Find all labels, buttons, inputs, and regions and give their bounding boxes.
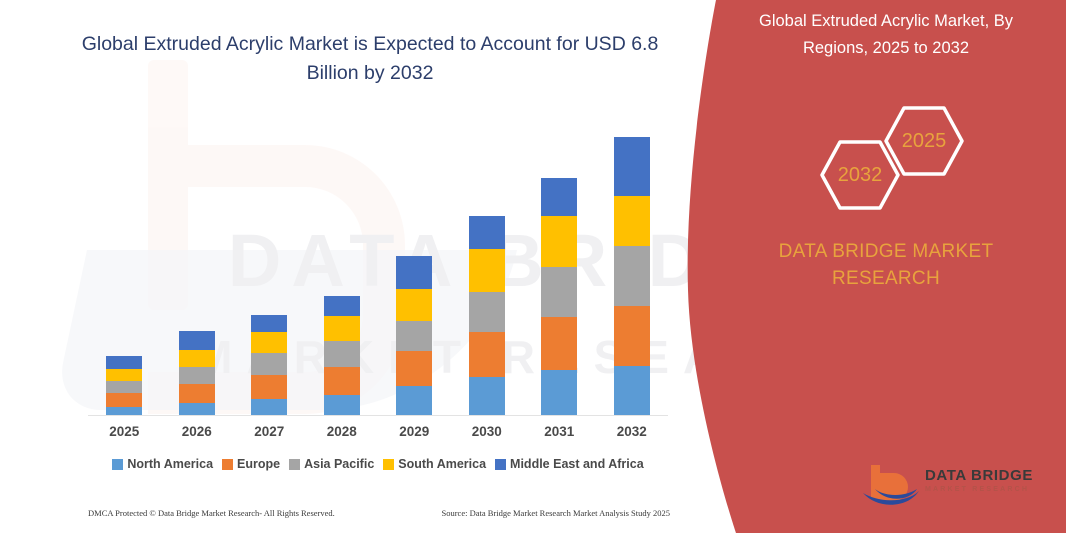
bar-segment [469, 216, 505, 249]
chart-plot-area [88, 120, 680, 416]
footer-copyright: DMCA Protected © Data Bridge Market Rese… [88, 508, 335, 518]
bar-segment [469, 332, 505, 377]
bar-group [88, 121, 668, 415]
legend-item-asia-pacific[interactable]: Asia Pacific [289, 457, 374, 471]
bar-segment [106, 381, 142, 393]
bar-segment [106, 393, 142, 407]
bar-segment [614, 366, 650, 415]
x-tick-2032: 2032 [596, 424, 669, 439]
x-axis-labels: 20252026202720282029203020312032 [88, 424, 668, 439]
bar-segment [179, 350, 215, 367]
footer: DMCA Protected © Data Bridge Market Rese… [88, 508, 670, 518]
x-tick-2030: 2030 [451, 424, 524, 439]
stacked-bar [324, 296, 360, 415]
bar-segment [106, 407, 142, 415]
bar-column-2030 [451, 121, 524, 415]
stacked-bar [106, 356, 142, 415]
bar-segment [396, 351, 432, 386]
footer-source: Source: Data Bridge Market Research Mark… [441, 508, 670, 518]
stacked-bar [614, 137, 650, 415]
legend-item-middle-east-and-africa[interactable]: Middle East and Africa [495, 457, 644, 471]
logo: DATA BRIDGE MARKET RESEARCH [861, 463, 1051, 515]
legend-swatch-icon [383, 459, 394, 470]
bar-segment [469, 292, 505, 332]
bar-column-2027 [233, 121, 306, 415]
bar-segment [614, 137, 650, 196]
bar-segment [469, 249, 505, 292]
bar-segment [541, 216, 577, 267]
bar-segment [179, 403, 215, 415]
right-panel: Global Extruded Acrylic Market, By Regio… [686, 0, 1066, 533]
chart-legend: North AmericaEuropeAsia PacificSouth Ame… [88, 457, 668, 471]
panel-title: Global Extruded Acrylic Market, By Regio… [726, 8, 1046, 62]
bar-segment [614, 306, 650, 366]
bar-segment [541, 370, 577, 415]
hexagon-2032-label: 2032 [818, 138, 902, 212]
hexagon-2032: 2032 [818, 138, 902, 212]
bar-segment [179, 331, 215, 350]
bar-segment [179, 384, 215, 403]
bar-column-2029 [378, 121, 451, 415]
legend-item-europe[interactable]: Europe [222, 457, 280, 471]
bar-segment [541, 317, 577, 370]
data-bridge-logo-icon [861, 463, 923, 513]
bar-segment [541, 178, 577, 216]
logo-text: DATA BRIDGE MARKET RESEARCH [925, 467, 1055, 495]
bar-segment [614, 246, 650, 306]
stacked-bar [251, 315, 287, 415]
legend-swatch-icon [495, 459, 506, 470]
bar-column-2031 [523, 121, 596, 415]
axis-baseline [88, 415, 668, 416]
legend-label: Middle East and Africa [510, 457, 644, 471]
legend-swatch-icon [289, 459, 300, 470]
bar-segment [106, 356, 142, 369]
brand-name: DATA BRIDGE MARKET RESEARCH [726, 238, 1046, 292]
bar-segment [396, 256, 432, 289]
stacked-bar [469, 216, 505, 415]
logo-name-line1: DATA BRIDGE [925, 467, 1055, 484]
logo-name-line2: MARKET RESEARCH [925, 484, 1055, 495]
bar-segment [324, 341, 360, 367]
bar-segment [179, 367, 215, 384]
stacked-bar [396, 256, 432, 415]
x-tick-2028: 2028 [306, 424, 379, 439]
legend-label: Europe [237, 457, 280, 471]
stacked-bar [179, 331, 215, 415]
bar-segment [251, 375, 287, 399]
bar-column-2025 [88, 121, 161, 415]
x-tick-2025: 2025 [88, 424, 161, 439]
bar-segment [251, 353, 287, 375]
bar-segment [251, 399, 287, 415]
infographic-canvas: DATA BRIDGE MARKET RESEARCH Global Extru… [0, 0, 1066, 533]
bar-column-2026 [161, 121, 234, 415]
legend-label: South America [398, 457, 486, 471]
x-tick-2029: 2029 [378, 424, 451, 439]
bar-segment [324, 395, 360, 415]
bar-segment [251, 332, 287, 353]
bar-segment [396, 289, 432, 321]
bar-segment [324, 316, 360, 341]
bar-segment [469, 377, 505, 415]
legend-item-north-america[interactable]: North America [112, 457, 213, 471]
bar-segment [106, 369, 142, 381]
legend-label: Asia Pacific [304, 457, 374, 471]
legend-item-south-america[interactable]: South America [383, 457, 486, 471]
x-tick-2031: 2031 [523, 424, 596, 439]
legend-label: North America [127, 457, 213, 471]
stacked-bar [541, 178, 577, 415]
x-tick-2027: 2027 [233, 424, 306, 439]
legend-swatch-icon [222, 459, 233, 470]
x-tick-2026: 2026 [161, 424, 234, 439]
bar-column-2032 [596, 121, 669, 415]
bar-segment [324, 367, 360, 395]
legend-swatch-icon [112, 459, 123, 470]
page-title: Global Extruded Acrylic Market is Expect… [60, 30, 680, 88]
bar-segment [396, 321, 432, 351]
bar-segment [324, 296, 360, 316]
bar-segment [614, 196, 650, 246]
bar-segment [396, 386, 432, 415]
bar-segment [251, 315, 287, 332]
bar-column-2028 [306, 121, 379, 415]
bar-segment [541, 267, 577, 317]
